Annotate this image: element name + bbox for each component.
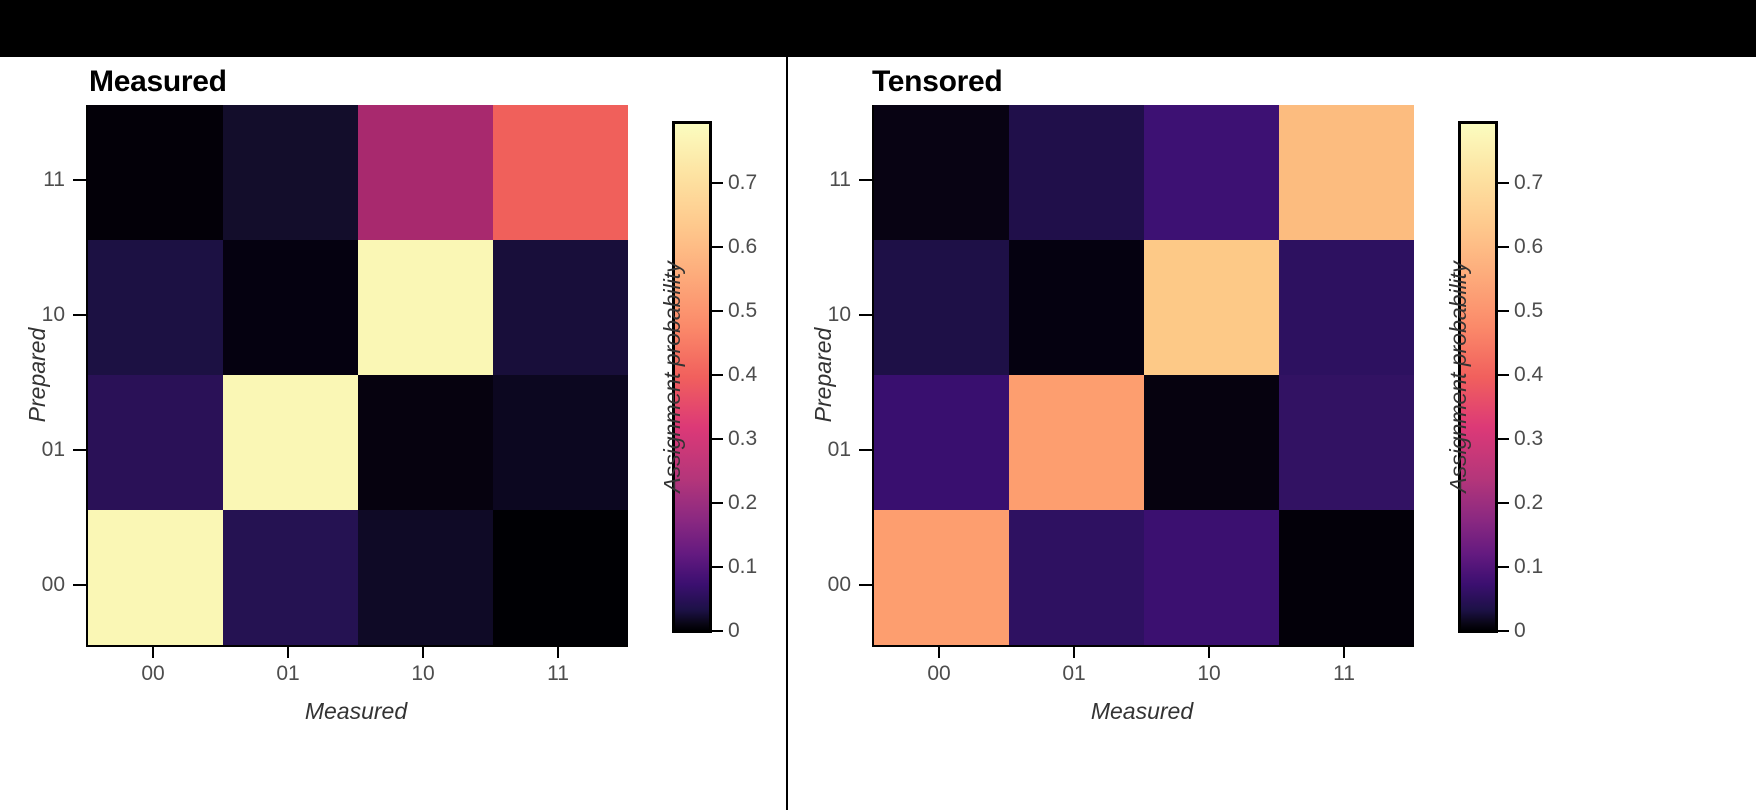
cb2-tick-label-0.7: 0.7 — [1514, 171, 1543, 195]
heatmap-cell — [358, 240, 493, 375]
cb2-tick-label-0.2: 0.2 — [1514, 491, 1543, 515]
cb-tick-label-0.6: 0.6 — [728, 235, 757, 259]
heatmap-cell — [493, 510, 628, 645]
x-tick-label-01: 01 — [276, 662, 299, 686]
heatmap-cell — [1279, 105, 1414, 240]
heatmap-cell — [358, 510, 493, 645]
cb2-tick-label-0.5: 0.5 — [1514, 299, 1543, 323]
cb-tick-label-0: 0 — [728, 619, 740, 643]
panel-measured: Measured 11 10 01 00 00 01 10 11 Measure… — [0, 57, 786, 810]
heatmap-cell — [874, 510, 1009, 645]
heatmap-cell — [223, 510, 358, 645]
x-axis-title-2: Measured — [1091, 698, 1193, 725]
x-tick-label-00-2: 00 — [927, 662, 950, 686]
y-axis-title: Prepared — [24, 328, 51, 423]
top-black-band — [0, 0, 1756, 57]
heatmap-cell — [1279, 375, 1414, 510]
y-tick-mark-10-2 — [859, 314, 872, 316]
y-tick-mark-11 — [73, 179, 86, 181]
x-tick-mark-10-2 — [1208, 645, 1210, 658]
y-tick-label-11: 11 — [0, 168, 65, 192]
x-tick-label-11-2: 11 — [1333, 662, 1355, 686]
cb-tick-label-0.4: 0.4 — [728, 363, 757, 387]
heatmap-measured — [86, 105, 628, 647]
heatmap-cell — [1009, 510, 1144, 645]
cb-tick-label-0.7: 0.7 — [728, 171, 757, 195]
x-tick-mark-00-2 — [938, 645, 940, 658]
heatmap-cell — [1144, 105, 1279, 240]
y-tick-mark-00-2 — [859, 584, 872, 586]
heatmap-cell — [88, 375, 223, 510]
cb-tick-mark-0.5 — [712, 310, 723, 312]
heatmap-cell — [88, 105, 223, 240]
cb2-tick-mark-0.1 — [1498, 566, 1509, 568]
heatmap-cell — [1009, 105, 1144, 240]
x-tick-mark-10 — [422, 645, 424, 658]
y-tick-label-10: 10 — [0, 303, 65, 327]
heatmap-cell — [1144, 510, 1279, 645]
colorbar-title: Assignment probability — [659, 261, 686, 492]
y-tick-label-00-2: 00 — [788, 573, 851, 597]
heatmap-cell — [874, 375, 1009, 510]
cb-tick-label-0.1: 0.1 — [728, 555, 757, 579]
heatmap-cell — [1144, 375, 1279, 510]
y-tick-mark-01-2 — [859, 449, 872, 451]
heatmap-cell — [1009, 240, 1144, 375]
page-title: Measured — [89, 65, 227, 99]
heatmap-cell — [358, 375, 493, 510]
x-tick-mark-11-2 — [1343, 645, 1345, 658]
cb2-tick-mark-0.4 — [1498, 374, 1509, 376]
x-tick-label-11: 11 — [547, 662, 569, 686]
y-tick-label-10-2: 10 — [788, 303, 851, 327]
heatmap-cell — [88, 240, 223, 375]
cb-tick-mark-0.7 — [712, 182, 723, 184]
cb2-tick-mark-0.3 — [1498, 438, 1509, 440]
x-tick-label-10-2: 10 — [1197, 662, 1220, 686]
x-tick-mark-01 — [287, 645, 289, 658]
cb2-tick-label-0.6: 0.6 — [1514, 235, 1543, 259]
x-tick-mark-01-2 — [1073, 645, 1075, 658]
heatmap-cell — [1144, 240, 1279, 375]
heatmap-cell — [358, 105, 493, 240]
x-tick-label-10: 10 — [411, 662, 434, 686]
cb2-tick-mark-0.6 — [1498, 246, 1509, 248]
y-axis-title-2: Prepared — [810, 328, 837, 423]
y-tick-mark-01 — [73, 449, 86, 451]
y-tick-mark-11-2 — [859, 179, 872, 181]
y-tick-label-11-2: 11 — [788, 168, 851, 192]
y-tick-label-00: 00 — [0, 573, 65, 597]
heatmap-cell — [223, 240, 358, 375]
cb2-tick-label-0.4: 0.4 — [1514, 363, 1543, 387]
cb2-tick-label-0: 0 — [1514, 619, 1526, 643]
cb-tick-mark-0.3 — [712, 438, 723, 440]
heatmap-cell — [493, 375, 628, 510]
y-tick-mark-00 — [73, 584, 86, 586]
cb2-tick-mark-0 — [1498, 630, 1509, 632]
cb-tick-mark-0.4 — [712, 374, 723, 376]
heatmap-cell — [493, 240, 628, 375]
cb-tick-label-0.2: 0.2 — [728, 491, 757, 515]
cb2-tick-label-0.1: 0.1 — [1514, 555, 1543, 579]
page-title-2: Tensored — [872, 65, 1002, 99]
heatmap-tensored — [872, 105, 1414, 647]
heatmap-cell — [223, 105, 358, 240]
cb2-tick-mark-0.5 — [1498, 310, 1509, 312]
panel-tensored: Tensored 11 10 01 00 00 01 10 11 Measure… — [788, 57, 1756, 810]
heatmap-cell — [1279, 240, 1414, 375]
x-tick-label-01-2: 01 — [1062, 662, 1085, 686]
y-tick-mark-10 — [73, 314, 86, 316]
heatmap-cell — [493, 105, 628, 240]
colorbar-title-2: Assignment probability — [1445, 261, 1472, 492]
cb2-tick-mark-0.7 — [1498, 182, 1509, 184]
cb-tick-label-0.3: 0.3 — [728, 427, 757, 451]
heatmap-cell — [1279, 510, 1414, 645]
y-tick-label-01: 01 — [0, 438, 65, 462]
x-tick-mark-00 — [152, 645, 154, 658]
cb-tick-mark-0.2 — [712, 502, 723, 504]
y-tick-label-01-2: 01 — [788, 438, 851, 462]
cb-tick-mark-0.1 — [712, 566, 723, 568]
heatmap-cell — [88, 510, 223, 645]
heatmap-cell — [223, 375, 358, 510]
cb-tick-label-0.5: 0.5 — [728, 299, 757, 323]
x-tick-mark-11 — [557, 645, 559, 658]
cb2-tick-label-0.3: 0.3 — [1514, 427, 1543, 451]
heatmap-cell — [874, 240, 1009, 375]
x-axis-title: Measured — [305, 698, 407, 725]
cb-tick-mark-0.6 — [712, 246, 723, 248]
heatmap-cell — [1009, 375, 1144, 510]
heatmap-cell — [874, 105, 1009, 240]
cb-tick-mark-0 — [712, 630, 723, 632]
cb2-tick-mark-0.2 — [1498, 502, 1509, 504]
x-tick-label-00: 00 — [141, 662, 164, 686]
